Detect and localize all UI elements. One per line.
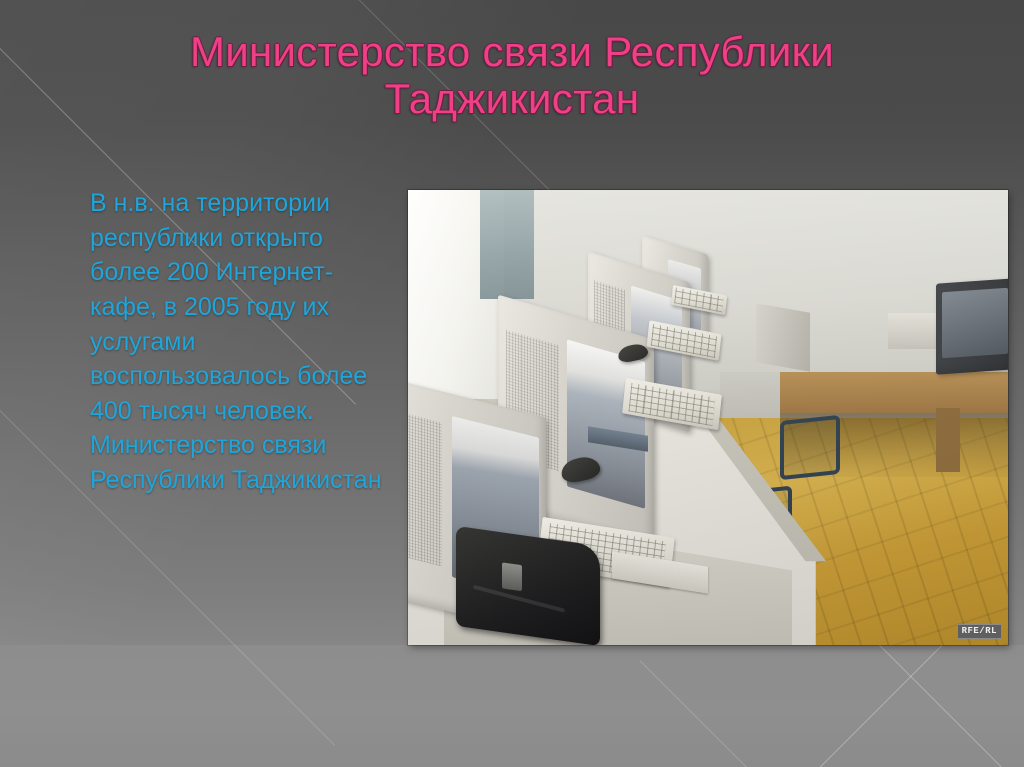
- far-desk-leg: [936, 408, 960, 472]
- photo-watermark: RFE/RL: [957, 624, 1002, 639]
- monitor-screen: [942, 288, 1008, 358]
- slide-title: Министерство связи Республики Таджикиста…: [64, 28, 960, 123]
- backpack: [456, 526, 600, 645]
- photo-illustration: [408, 190, 1008, 645]
- monitor-screen: [567, 340, 645, 509]
- slide-background-lower-band: [0, 645, 1024, 767]
- presentation-slide: Министерство связи Республики Таджикиста…: [0, 0, 1024, 767]
- monitor-vent: [408, 405, 442, 566]
- far-desk: [780, 372, 1008, 413]
- chair: [780, 414, 840, 479]
- room-curtain: [480, 190, 534, 299]
- monitor-far-right: [936, 278, 1008, 374]
- slide-body-text: В н.в. на территории республики открыто …: [90, 186, 390, 498]
- slide-photo: RFE/RL: [408, 190, 1008, 645]
- computer-tower: [756, 304, 810, 373]
